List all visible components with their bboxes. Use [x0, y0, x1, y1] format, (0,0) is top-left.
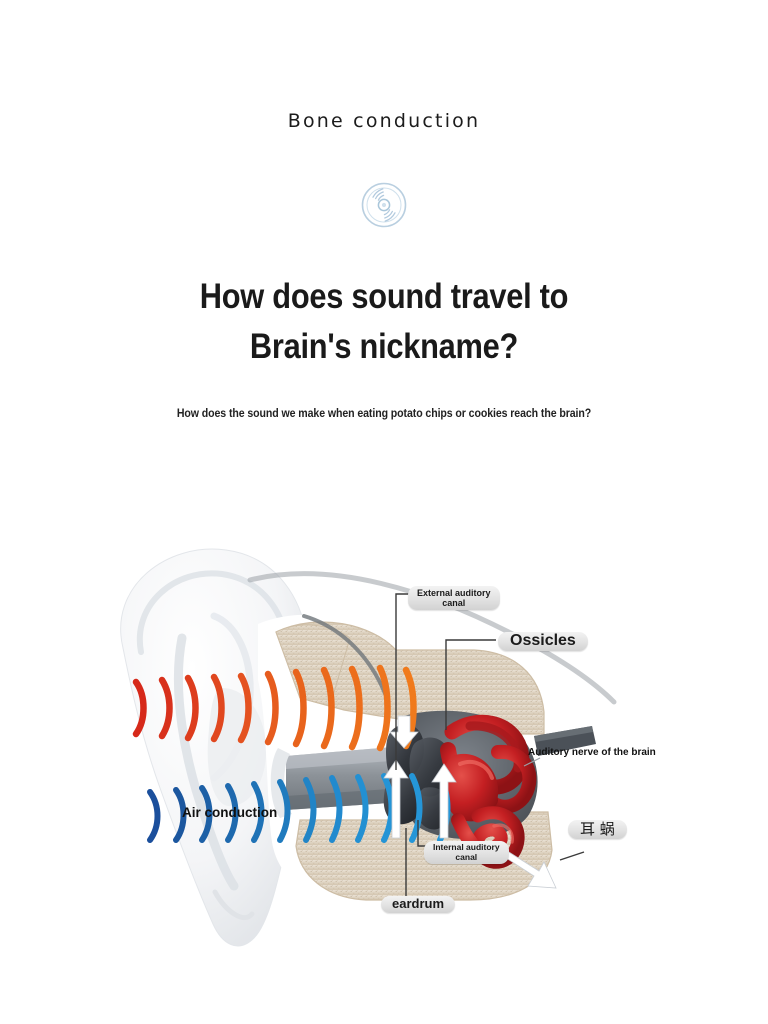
headline-line-2: Brain's nickname? [46, 322, 722, 372]
label-external-auditory-canal: External auditory canal [408, 586, 500, 610]
page-root: Bone conduction How does sound travel to [0, 0, 768, 1024]
headline: How does sound travel to Brain's nicknam… [46, 272, 722, 372]
label-text-line1: Internal auditory [433, 842, 500, 852]
label-text-line1: External auditory [417, 588, 491, 598]
page-title: Bone conduction [0, 110, 768, 132]
label-air-conduction: Air conduction [182, 805, 277, 820]
label-internal-auditory-canal: Internal auditory canal [424, 841, 509, 864]
bone-conduction-disc-icon [360, 181, 408, 229]
label-text-line2: canal [442, 598, 465, 608]
label-auditory-nerve: Auditory nerve of the brain [528, 747, 656, 758]
label-eardrum: eardrum [381, 896, 455, 913]
label-cochlea-chinese: 耳 蜗 [568, 820, 627, 839]
headline-line-1: How does sound travel to [200, 277, 568, 316]
subheadline: How does the sound we make when eating p… [31, 408, 738, 420]
label-ossicles: Ossicles [498, 632, 588, 651]
label-text-line2: canal [455, 852, 477, 862]
